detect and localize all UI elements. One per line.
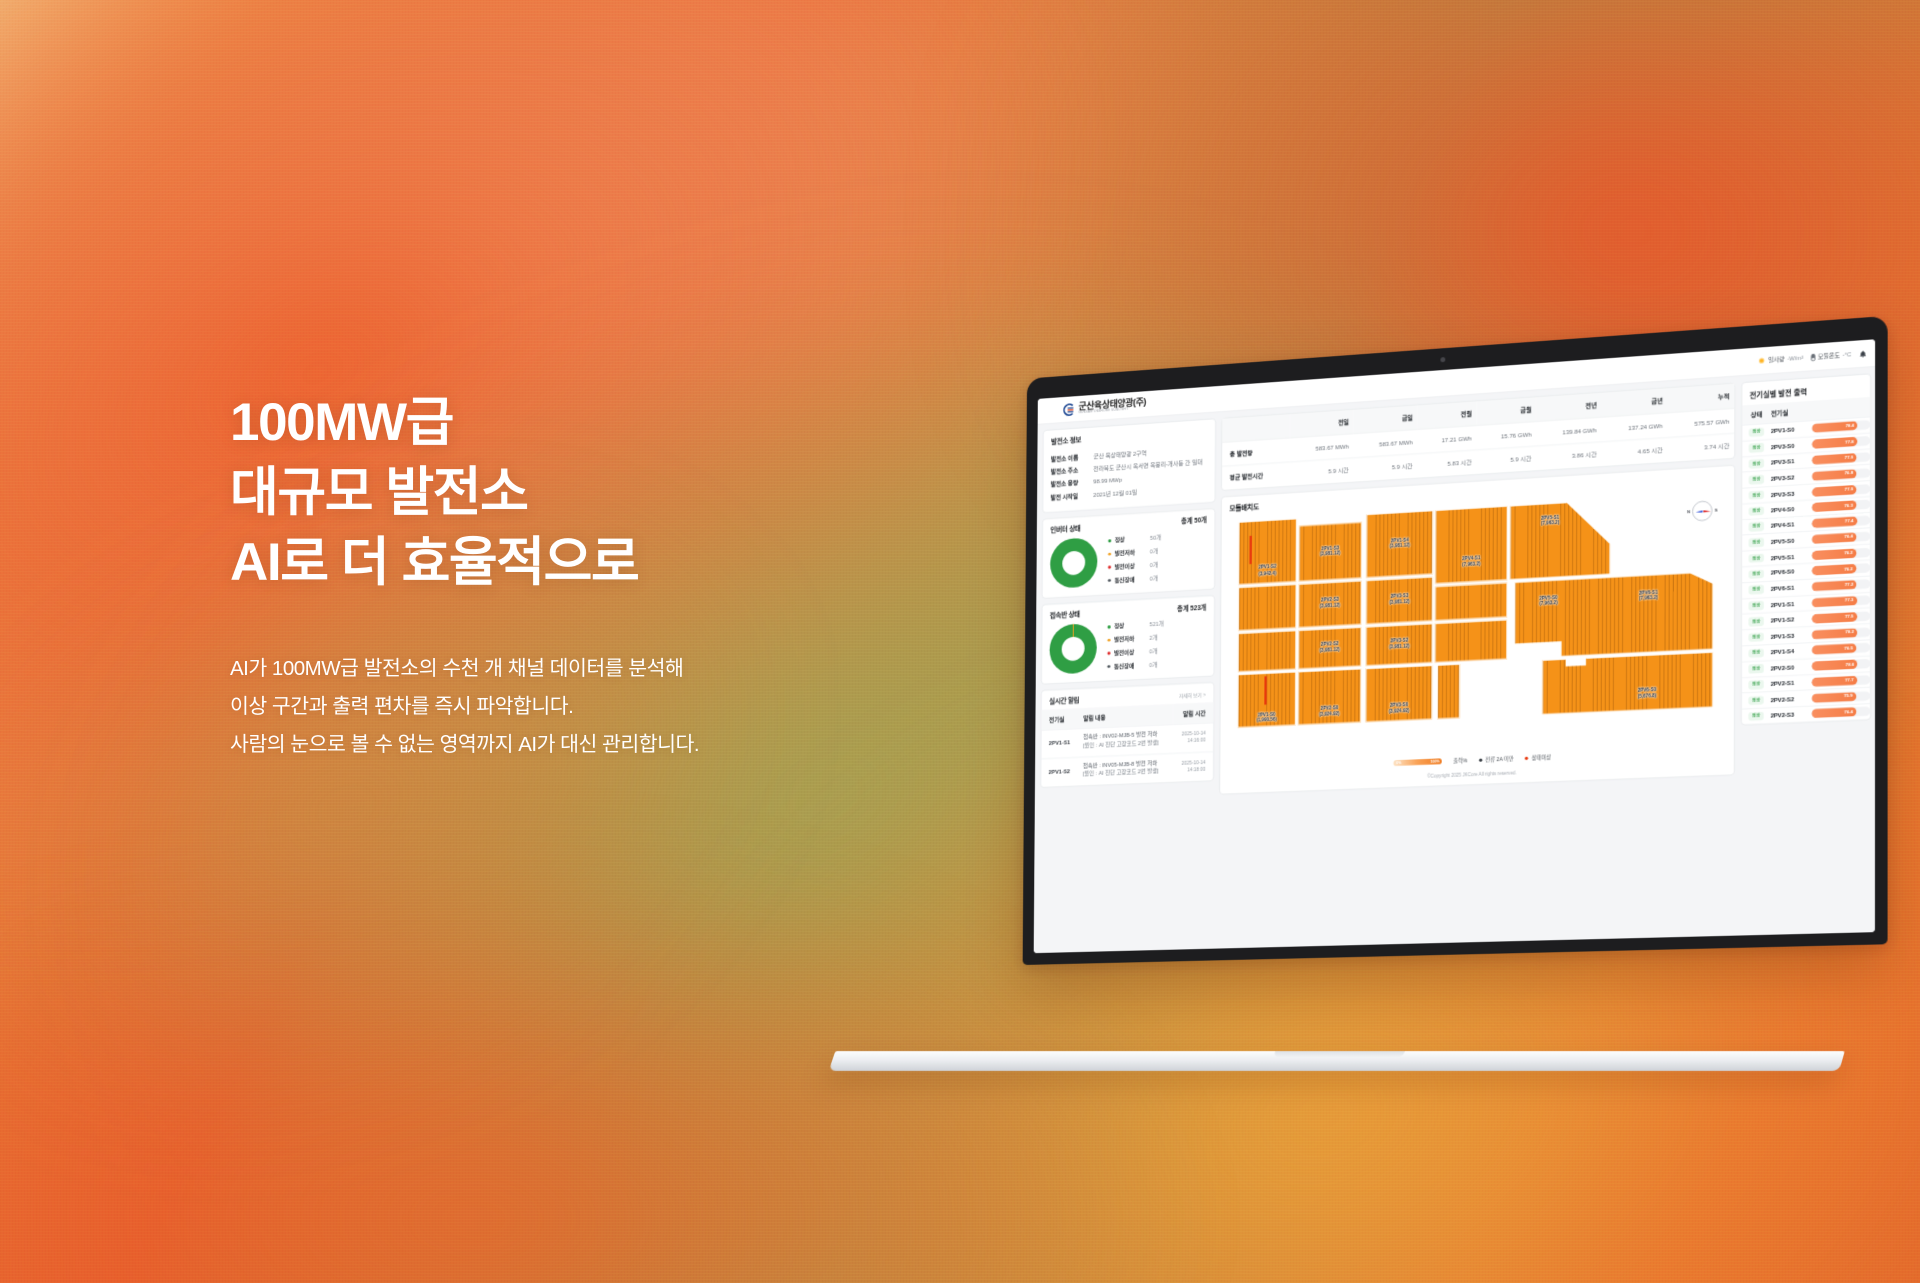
status-dot-fault (1108, 566, 1111, 569)
status-cell: 정상 (1742, 569, 1771, 579)
output-bar-fill: 77.8 (1812, 437, 1857, 449)
inverter-legend: 정상50개 발전저하0개 발전이상0개 통신장애0개 (1103, 531, 1207, 585)
plant-info-key: 발전소 주소 (1051, 465, 1087, 476)
legend-label: 통신장애 (1114, 574, 1149, 584)
module-block[interactable]: 2PV1-S3(3,981.12) (1299, 522, 1362, 582)
module-temp-readout: 모듈온도 -°C (1811, 350, 1851, 361)
module-block[interactable]: 2PV5-S0(7,963.2) 2PV6-S1(7,963.2) (1515, 571, 1713, 658)
block-label: 2PV6-S0(5,676.8) (1638, 688, 1657, 701)
module-block[interactable] (1238, 630, 1296, 672)
legend-fault: 상태이상 (1525, 753, 1551, 761)
module-block[interactable]: 2PV3-S3(3,981.12) (1366, 577, 1432, 625)
output-bar: 77.0 (1812, 452, 1870, 465)
output-bar-fill: 78.2 (1812, 628, 1858, 640)
alarm-room: 2PV1-S2 (1041, 757, 1078, 787)
alarm-time: 2025-10-14 14:16:00 (1173, 723, 1213, 754)
room-name: 2PV1-S2 (1771, 615, 1812, 625)
status-cell: 정상 (1742, 506, 1771, 517)
status-badge: 정상 (1749, 585, 1764, 595)
alarm-room: 2PV1-S1 (1041, 728, 1078, 758)
stats-cell: 5.83 시간 (1417, 450, 1476, 478)
scale-max-label: 100% (1430, 758, 1439, 764)
status-badge: 정상 (1749, 490, 1764, 500)
legend-item: 통신장애0개 (1107, 658, 1206, 671)
output-bar: 78.4 (1812, 420, 1870, 433)
module-block[interactable]: 2PV4-S1(7,963.2) (1435, 506, 1507, 584)
irradiance-label: 일사량 (1768, 355, 1784, 365)
output-value: 76.8 (1844, 471, 1853, 477)
module-block[interactable] (1238, 584, 1296, 631)
output-bar: 77.4 (1812, 516, 1870, 529)
output-bar: 77.0 (1812, 484, 1870, 497)
stats-cell: 3.86 시간 (1536, 442, 1601, 471)
alarm-date: 2025-10-14 (1182, 760, 1206, 766)
legend-count: 2개 (1149, 634, 1157, 642)
hero-copy: 100MW급 대규모 발전소 AI로 더 효율적으로 AI가 100MW급 발전… (230, 388, 870, 764)
irradiance-readout: 일사량 -W/m² (1758, 354, 1803, 366)
status-dot-degraded (1107, 639, 1110, 642)
status-badge: 정상 (1749, 553, 1764, 563)
output-bar: 77.5 (1812, 611, 1871, 623)
status-cell: 정상 (1742, 427, 1771, 438)
status-cell: 정상 (1742, 490, 1771, 501)
legend-item: 발전이상0개 (1107, 645, 1206, 658)
status-cell: 정상 (1742, 664, 1771, 674)
status-cell: 정상 (1742, 458, 1771, 469)
inverter-status-card: 인버터 상태 총계 50개 정상50개 발전저하0개 발전이상0개 통신장애0개 (1042, 508, 1216, 599)
room-name: 2PV4-S1 (1771, 520, 1812, 530)
right-column: 전기실별 발전 출력 상태 전기실 정상2PV1-S078.4정상2PV3-S0… (1741, 373, 1871, 725)
room-output-card: 전기실별 발전 출력 상태 전기실 정상2PV1-S078.4정상2PV3-S0… (1741, 373, 1871, 725)
bell-icon[interactable] (1859, 350, 1867, 358)
block-label: 2PV1-S2(3,942.4) (1259, 565, 1277, 578)
room-name: 2PV1-S1 (1771, 599, 1812, 609)
legend-count: 0개 (1150, 574, 1158, 582)
block-label: 2PV2-S3(3,981.12) (1320, 598, 1340, 611)
status-badge: 정상 (1749, 712, 1764, 722)
output-bar: 76.3 (1812, 500, 1870, 513)
sun-icon (1758, 357, 1766, 365)
output-value: 76.4 (1844, 535, 1853, 541)
inverter-donut-chart (1050, 537, 1097, 589)
status-cell: 정상 (1742, 648, 1771, 658)
headline-line-2: 대규모 발전소 (230, 458, 870, 528)
room-name: 2PV1-S4 (1771, 647, 1812, 657)
block-label: 2PV3-S2(3,981.12) (1389, 638, 1410, 651)
output-bar-fill: 77.0 (1812, 485, 1857, 497)
output-value: 77.0 (1845, 455, 1854, 461)
status-cell: 정상 (1742, 680, 1771, 690)
output-bar: 76.4 (1812, 707, 1871, 719)
output-bar: 76.4 (1812, 532, 1870, 545)
fault-indicator (1250, 536, 1253, 564)
room-name: 2PV1-S3 (1771, 631, 1812, 641)
output-bar: 76.8 (1812, 468, 1870, 481)
fault-label: 상태이상 (1532, 753, 1551, 761)
status-badge: 정상 (1749, 617, 1764, 627)
legend-label: 정상 (1114, 621, 1149, 631)
room-name: 2PV5-S0 (1771, 536, 1812, 546)
legend-item: 통신장애0개 (1108, 571, 1207, 585)
webcam-icon (1440, 357, 1445, 362)
output-value: 76.2 (1844, 550, 1853, 556)
legend-label: 발전저하 (1115, 548, 1150, 558)
output-bar-fill: 77.2 (1812, 580, 1857, 592)
laptop-base (829, 1051, 1845, 1071)
plant-info-title: 발전소 정보 (1051, 435, 1081, 447)
plant-info-card: 발전소 정보 발전소 이름 군산 육상태양광 2구역 발전소 주소 전라북도 군… (1042, 418, 1216, 513)
module-map-area[interactable]: N S 2PV1-S2(3,942.4) (1228, 488, 1726, 760)
module-block[interactable]: 2PV2-S2(3,981.12) (1298, 627, 1361, 669)
combiner-legend: 정상521개 발전저하2개 발전이상0개 통신장애0개 (1103, 618, 1207, 671)
alarm-date: 2025-10-14 (1182, 731, 1206, 737)
stats-cell: 3.74 시간 (1668, 433, 1735, 462)
status-cell: 정상 (1742, 521, 1771, 532)
col-status: 상태 (1742, 404, 1771, 425)
low-current-dot-icon (1479, 758, 1482, 761)
stats-cell: 5.9 시간 (1290, 458, 1353, 486)
plant-info-value: 98.99 MWp (1093, 476, 1122, 487)
output-bar-fill: 75.9 (1812, 691, 1856, 702)
laptop-mockup: 군산육상태양광(주) GUNSAN ONSHORE SUNLIGHT 일사량 -… (880, 345, 1920, 1005)
block-label: 2PV2-S2(3,981.12) (1320, 642, 1340, 655)
output-value: 77.4 (1845, 519, 1854, 525)
output-bar-fill: 77.4 (1812, 516, 1857, 528)
legend-item: 발전저하2개 (1107, 631, 1206, 644)
stats-row-label: 평균 발전시간 (1222, 462, 1290, 490)
headline-line-3: AI로 더 효율적으로 (230, 528, 870, 598)
irradiance-value: -W/m² (1787, 355, 1803, 362)
status-cell: 정상 (1742, 537, 1771, 548)
room-name: 2PV2-S1 (1771, 678, 1812, 687)
module-map-blocks: 2PV1-S2(3,942.4) 2PV1-S3(3,981.12) 2PV1-… (1228, 488, 1726, 760)
output-bar: 78.6 (1812, 659, 1871, 671)
alarm-title: 실시간 알림 (1049, 695, 1079, 706)
output-bar-fill: 77.5 (1812, 612, 1857, 624)
output-value: 77.8 (1845, 439, 1854, 445)
status-badge: 정상 (1749, 648, 1764, 658)
room-output-rows: 정상2PV1-S078.4정상2PV3-S077.8정상2PV3-S177.0정… (1742, 416, 1871, 724)
alarm-clock: 14:16:00 (1178, 737, 1206, 745)
output-bar: 77.3 (1812, 595, 1871, 607)
status-cell: 정상 (1742, 553, 1771, 563)
status-cell: 정상 (1742, 632, 1771, 642)
room-name: 2PV2-S0 (1771, 663, 1812, 672)
status-badge: 정상 (1749, 506, 1764, 516)
output-bar-fill: 76.8 (1812, 469, 1857, 481)
legend-low-current: 전류 2A 미만 (1479, 755, 1514, 764)
alarm-message: 접속반 : INV02-MJB-5 발전 저하 [원인 : AI 진단 고장코드… (1078, 724, 1173, 757)
subcopy-line-2: 이상 구간과 출력 편차를 즉시 파악합니다. (230, 688, 870, 726)
alarm-message-cause: [원인 : AI 진단 고장코드 2번 발생] (1083, 768, 1168, 780)
status-badge: 정상 (1749, 569, 1764, 579)
scale-min-label: 0% (1396, 760, 1401, 766)
output-bar-fill: 76.3 (1812, 501, 1857, 513)
combiner-donut-wrap: 정상521개 발전저하2개 발전이상0개 통신장애0개 (1042, 615, 1214, 684)
topbar-status: 일사량 -W/m² 모듈온도 -°C (1758, 349, 1867, 365)
hero-subcopy: AI가 100MW급 발전소의 수천 개 채널 데이터를 분석해 이상 구간과 … (230, 650, 870, 764)
output-bar-fill: 78.4 (1812, 421, 1858, 433)
plant-info-key: 발전소 용량 (1051, 478, 1087, 489)
status-cell: 정상 (1742, 474, 1771, 485)
status-badge: 정상 (1749, 443, 1764, 453)
block-label: 2PV3-S3(3,981.12) (1389, 594, 1410, 607)
legend-label: 정상 (1115, 535, 1150, 545)
output-bar: 76.2 (1812, 563, 1871, 575)
status-dot-fault (1107, 652, 1110, 655)
laptop-notch (1273, 1051, 1405, 1058)
headline-line-1: 100MW급 (230, 388, 870, 458)
output-bar: 75.9 (1812, 691, 1871, 703)
inverter-total: 총계 50개 (1181, 516, 1207, 526)
alarm-clock: 14:18:00 (1177, 766, 1205, 774)
legend-item: 정상521개 (1108, 618, 1207, 631)
inverter-status-title: 인버터 상태 (1050, 523, 1080, 534)
output-value: 76.5 (1844, 646, 1853, 651)
legend-item: 발전이상0개 (1108, 558, 1207, 572)
block-label: 2PV5-S1(7,963.2) (1541, 515, 1559, 528)
block-label: 2PV2-S0(3,924.92) (1319, 706, 1339, 719)
legend-label: 발전이상 (1114, 647, 1149, 657)
output-value: 77.3 (1845, 598, 1854, 604)
status-dot-normal (1108, 626, 1111, 629)
dashboard: 군산육상태양광(주) GUNSAN ONSHORE SUNLIGHT 일사량 -… (1034, 339, 1875, 953)
module-block[interactable]: 2PV2-S0(3,924.92) (1298, 669, 1361, 726)
output-bar: 76.5 (1812, 643, 1871, 655)
module-block[interactable]: 2PV5-S1(7,963.2) (1510, 500, 1611, 580)
alarm-table: 전기실 알림 내용 알림 시간 2PV1-S1 접속반 : INV02-MJB-… (1041, 702, 1214, 787)
thermometer-icon (1811, 353, 1815, 361)
status-badge: 정상 (1749, 538, 1764, 548)
plant-info-rows: 발전소 이름 군산 육상태양광 2구역 발전소 주소 전라북도 군산시 옥서면 … (1043, 438, 1215, 512)
legend-count: 0개 (1150, 560, 1158, 568)
output-value: 77.2 (1845, 582, 1854, 588)
status-badge: 정상 (1749, 427, 1764, 437)
alarm-time: 2025-10-14 14:18:00 (1173, 752, 1213, 782)
plant-info-key: 발전소 이름 (1051, 452, 1087, 463)
legend-label: 발전이상 (1115, 561, 1150, 571)
module-block[interactable]: 2PV3-S2(3,981.12) (1366, 623, 1432, 666)
laptop-lid: 군산육상태양광(주) GUNSAN ONSHORE SUNLIGHT 일사량 -… (1023, 316, 1888, 965)
stats-cell: 5.9 시간 (1353, 454, 1417, 482)
block-label: 2PV5-S0(7,963.2) (1539, 595, 1557, 608)
output-scale-bar: 0% 100% (1394, 758, 1442, 766)
subcopy-line-1: AI가 100MW급 발전소의 수천 개 채널 데이터를 분석해 (230, 650, 870, 688)
output-value: 78.4 (1845, 423, 1854, 429)
dashboard-body: 발전소 정보 발전소 이름 군산 육상태양광 2구역 발전소 주소 전라북도 군… (1035, 367, 1875, 807)
legend-count: 50개 (1150, 534, 1161, 543)
room-name: 2PV2-S2 (1771, 694, 1812, 703)
room-name: 2PV2-S3 (1771, 710, 1812, 719)
status-badge: 정상 (1749, 664, 1764, 674)
block-label: 2PV1-S0(1,990.56) (1257, 712, 1277, 725)
alarm-message-cause: [원인 : AI 진단 고장코드 2번 발생] (1083, 739, 1168, 751)
status-cell: 정상 (1742, 600, 1771, 610)
block-label: 2PV6-S1(7,963.2) (1639, 590, 1658, 603)
module-block[interactable]: 2PV1-S2(3,942.4) (1239, 519, 1297, 585)
output-bar-fill: 76.4 (1812, 707, 1857, 718)
hero-headline: 100MW급 대규모 발전소 AI로 더 효율적으로 (230, 388, 870, 598)
room-name: 2PV3-S3 (1771, 488, 1812, 498)
output-value: 77.5 (1845, 614, 1854, 620)
status-badge: 정상 (1749, 475, 1764, 485)
inverter-donut-wrap: 정상50개 발전저하0개 발전이상0개 통신장애0개 (1042, 528, 1214, 598)
output-bar-fill: 76.2 (1812, 548, 1857, 560)
alarm-message: 접속반 : INV05-MJB-8 발전 저하 [원인 : AI 진단 고장코드… (1078, 753, 1173, 785)
output-value: 77.0 (1845, 487, 1854, 493)
output-value: 76.4 (1844, 710, 1853, 715)
module-block[interactable]: 2PV3-S0(3,924.92) (1366, 665, 1433, 722)
room-name: 2PV1-S0 (1771, 425, 1812, 435)
status-badge: 정상 (1749, 601, 1764, 611)
alarm-more-link[interactable]: 자세히 보기 > (1179, 691, 1206, 699)
col-room: 전기실 (1771, 401, 1812, 423)
company-logo-icon (1062, 402, 1075, 416)
combiner-total: 총계 523개 (1177, 603, 1206, 613)
legend-item: 발전저하0개 (1108, 544, 1207, 558)
legend-count: 0개 (1150, 547, 1158, 555)
output-bar-fill: 77.0 (1812, 453, 1857, 465)
table-row[interactable]: 2PV1-S2 접속반 : INV05-MJB-8 발전 저하 [원인 : AI… (1041, 752, 1213, 787)
block-label: 2PV1-S3(3,981.12) (1320, 545, 1340, 558)
module-block[interactable] (1435, 583, 1507, 621)
room-name: 2PV3-S2 (1771, 472, 1812, 482)
status-dot-comm (1107, 665, 1110, 668)
alarm-card: 실시간 알림 자세히 보기 > 전기실 알림 내용 알림 시간 (1040, 682, 1214, 788)
brand-logo[interactable]: 군산육상태양광(주) GUNSAN ONSHORE SUNLIGHT (1047, 397, 1146, 417)
plant-info-value: 2021년 12월 01일 (1093, 488, 1137, 500)
plant-info-key: 발전 시작일 (1051, 491, 1087, 502)
low-current-label: 전류 2A 미만 (1485, 755, 1513, 764)
room-name: 2PV6-S1 (1771, 583, 1812, 593)
status-badge: 정상 (1749, 632, 1764, 642)
module-block[interactable]: 2PV6-S0(5,676.8) (1542, 652, 1713, 715)
laptop-screen: 군산육상태양광(주) GUNSAN ONSHORE SUNLIGHT 일사량 -… (1034, 339, 1875, 953)
block-label: 2PV4-S1(7,963.2) (1462, 556, 1480, 569)
legend-count: 0개 (1149, 647, 1157, 655)
stats-cell: 5.9 시간 (1477, 446, 1537, 474)
output-value: 76.3 (1844, 503, 1853, 509)
status-badge: 정상 (1749, 522, 1764, 532)
module-temp-label: 모듈온도 (1818, 351, 1840, 361)
legend-item: 정상50개 (1108, 531, 1207, 545)
status-badge: 정상 (1749, 459, 1764, 469)
status-badge: 정상 (1749, 696, 1764, 706)
status-dot-comm (1108, 579, 1111, 582)
module-block[interactable]: 2PV1-S0(1,990.56) (1238, 672, 1296, 728)
combiner-status-title: 접속반 상태 (1050, 609, 1080, 620)
status-cell: 정상 (1742, 443, 1771, 454)
output-bar-fill: 78.6 (1812, 660, 1858, 671)
output-value: 77.7 (1845, 678, 1854, 683)
room-name: 2PV3-S1 (1771, 456, 1812, 466)
status-dot-degraded (1108, 553, 1111, 556)
output-value: 78.6 (1845, 662, 1854, 667)
fault-dot-icon (1525, 756, 1528, 759)
status-cell: 정상 (1742, 695, 1771, 705)
module-block[interactable] (1437, 664, 1459, 719)
output-bar-fill: 76.5 (1812, 644, 1857, 655)
output-bar: 76.2 (1812, 547, 1871, 560)
subcopy-line-3: 사람의 눈으로 볼 수 없는 영역까지 AI가 대신 관리합니다. (230, 726, 870, 764)
output-value: 78.2 (1845, 630, 1854, 636)
output-bar: 77.7 (1812, 675, 1871, 687)
room-name: 2PV5-S1 (1771, 551, 1812, 561)
legend-label: 통신장애 (1114, 661, 1149, 671)
output-bar-fill: 76.2 (1812, 564, 1857, 576)
left-column: 발전소 정보 발전소 이름 군산 육상태양광 2구역 발전소 주소 전라북도 군… (1040, 418, 1216, 787)
output-value: 76.2 (1844, 566, 1853, 572)
output-value: 75.9 (1844, 694, 1853, 699)
combiner-status-card: 접속반 상태 총계 523개 정상521개 발전저하2개 발전이상0개 통신장애… (1041, 595, 1215, 685)
output-bar-fill: 77.3 (1812, 596, 1857, 608)
module-map-card: 모듈배치도 N S 2PV1-S2( (1219, 465, 1735, 795)
center-column: 전일 금일 전월 금월 전년 금년 누적 (1219, 383, 1735, 795)
fault-indicator (1264, 676, 1267, 705)
combiner-donut-chart (1049, 623, 1096, 675)
room-name: 2PV4-S0 (1771, 504, 1812, 514)
module-temp-value: -°C (1843, 351, 1852, 358)
status-cell: 정상 (1742, 585, 1771, 595)
module-map-title: 모듈배치도 (1229, 501, 1258, 512)
room-name: 2PV6-S0 (1771, 567, 1812, 577)
alarm-col-room: 전기실 (1041, 708, 1078, 730)
module-block[interactable] (1435, 620, 1507, 663)
room-name: 2PV3-S0 (1771, 441, 1812, 451)
legend-label: 발전저하 (1114, 634, 1149, 644)
module-block[interactable]: 2PV2-S3(3,981.12) (1298, 581, 1361, 628)
output-bar: 77.8 (1812, 436, 1870, 449)
output-bar: 77.2 (1812, 579, 1871, 591)
legend-count: 521개 (1149, 620, 1163, 629)
stats-cell: 4.65 시간 (1602, 438, 1668, 467)
output-bar-fill: 76.4 (1812, 532, 1857, 544)
status-cell: 정상 (1742, 711, 1771, 721)
scale-label: 출력% (1453, 757, 1467, 765)
status-badge: 정상 (1749, 680, 1764, 690)
block-label: 2PV3-S0(3,924.92) (1389, 703, 1410, 716)
legend-count: 0개 (1149, 660, 1157, 668)
output-bar: 78.2 (1812, 627, 1871, 639)
alarm-col-time: 알림 시간 (1173, 702, 1213, 724)
status-cell: 정상 (1742, 616, 1771, 626)
output-bar-fill: 77.7 (1812, 676, 1857, 687)
status-dot-normal (1108, 539, 1111, 542)
